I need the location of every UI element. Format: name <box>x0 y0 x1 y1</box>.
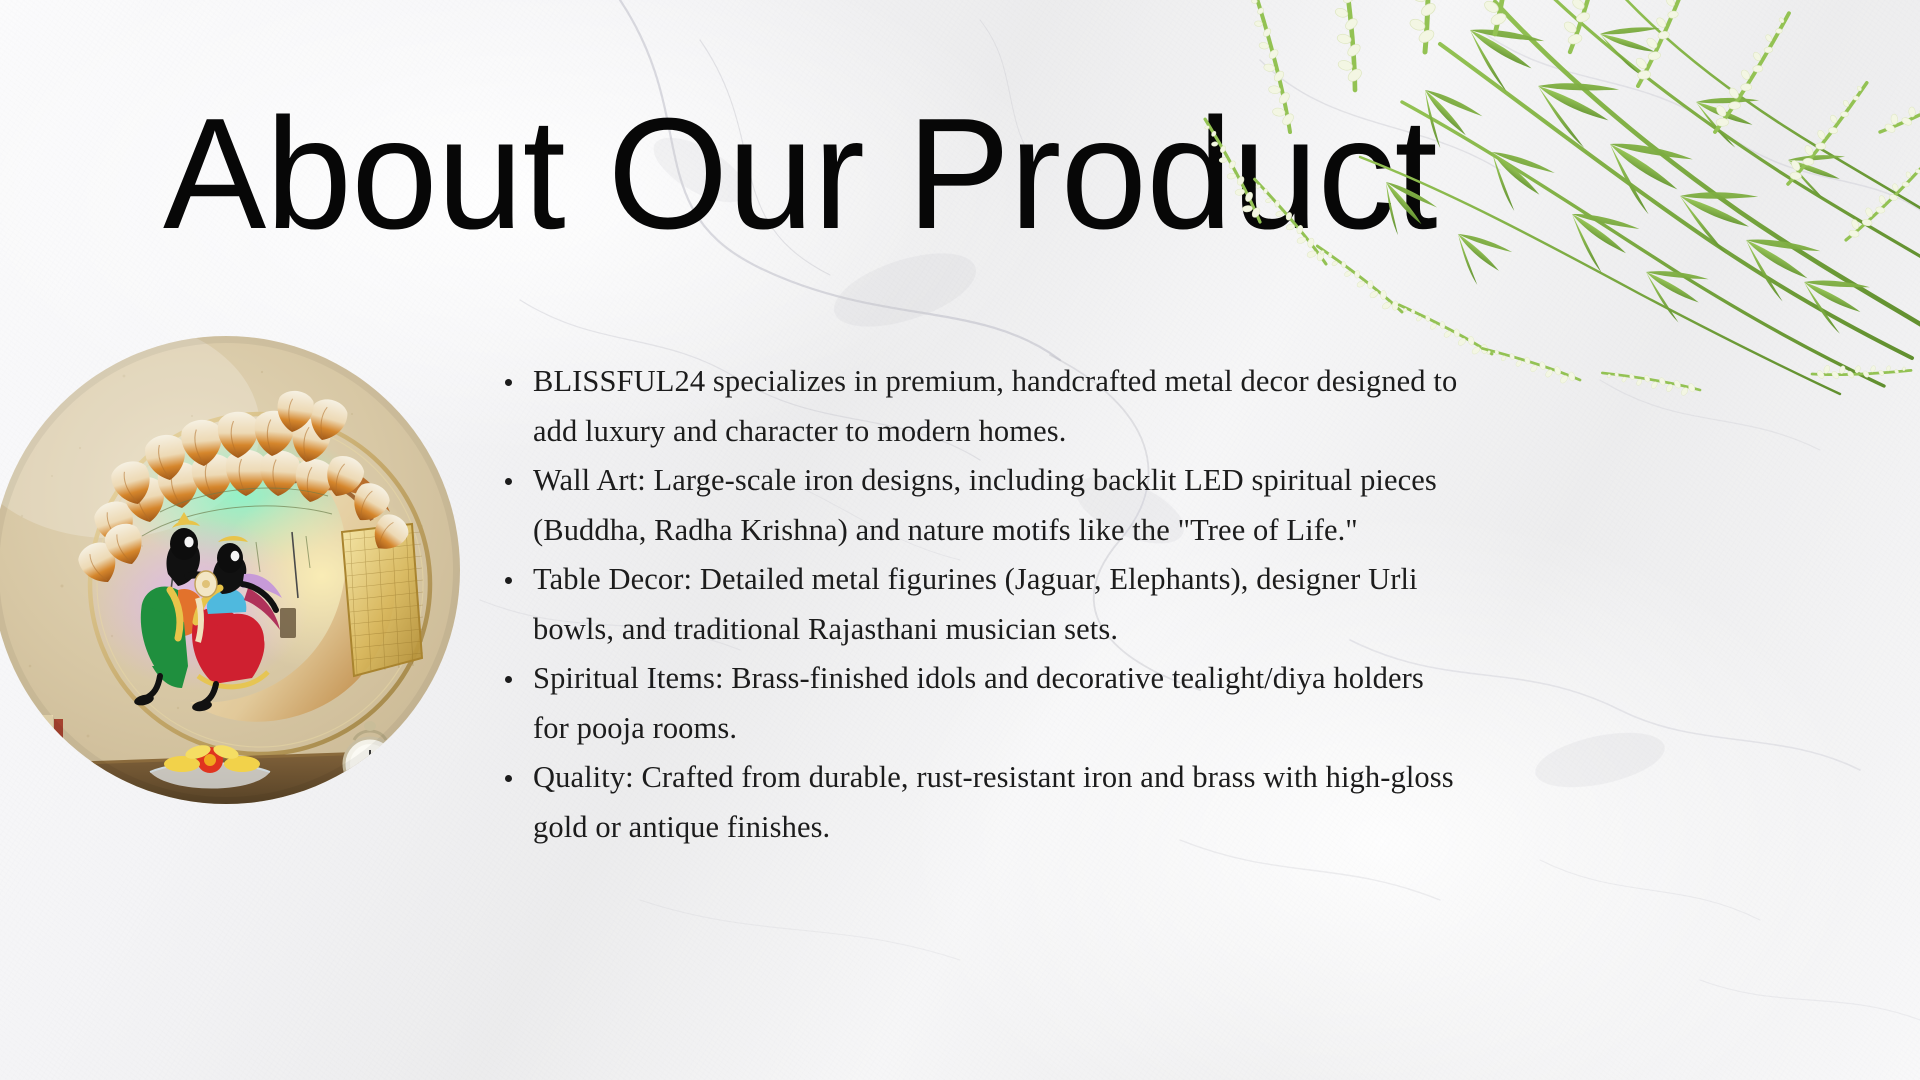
bullet-table-decor: Table Decor: Detailed metal figurines (J… <box>497 555 1920 654</box>
bullet-overview-line2: add luxury and character to modern homes… <box>533 407 1920 457</box>
bullet-overview-line1: BLISSFUL24 specializes in premium, handc… <box>533 357 1920 407</box>
bullet-spiritual-items-line2: for pooja rooms. <box>533 704 1920 754</box>
bullet-wall-art-line2: (Buddha, Radha Krishna) and nature motif… <box>533 506 1920 556</box>
bullet-overview: BLISSFUL24 specializes in premium, handc… <box>497 357 1920 456</box>
bullet-list: BLISSFUL24 specializes in premium, handc… <box>497 357 1920 852</box>
product-description: BLISSFUL24 specializes in premium, handc… <box>497 357 1920 852</box>
bullet-table-decor-line2: bowls, and traditional Rajasthani musici… <box>533 605 1920 655</box>
slide-about-our-product: About Our Product <box>0 0 1920 1080</box>
product-image-radha-krishna-wall-art <box>0 336 460 804</box>
page-title: About Our Product <box>163 92 1437 258</box>
bullet-quality: Quality: Crafted from durable, rust-resi… <box>497 753 1920 852</box>
bullet-quality-line1: Quality: Crafted from durable, rust-resi… <box>533 753 1920 803</box>
bullet-spiritual-items: Spiritual Items: Brass-finished idols an… <box>497 654 1920 753</box>
bullet-quality-line2: gold or antique finishes. <box>533 803 1920 853</box>
bullet-table-decor-line1: Table Decor: Detailed metal figurines (J… <box>533 555 1920 605</box>
bullet-spiritual-items-line1: Spiritual Items: Brass-finished idols an… <box>533 654 1920 704</box>
bullet-wall-art-line1: Wall Art: Large-scale iron designs, incl… <box>533 456 1920 506</box>
bullet-wall-art: Wall Art: Large-scale iron designs, incl… <box>497 456 1920 555</box>
